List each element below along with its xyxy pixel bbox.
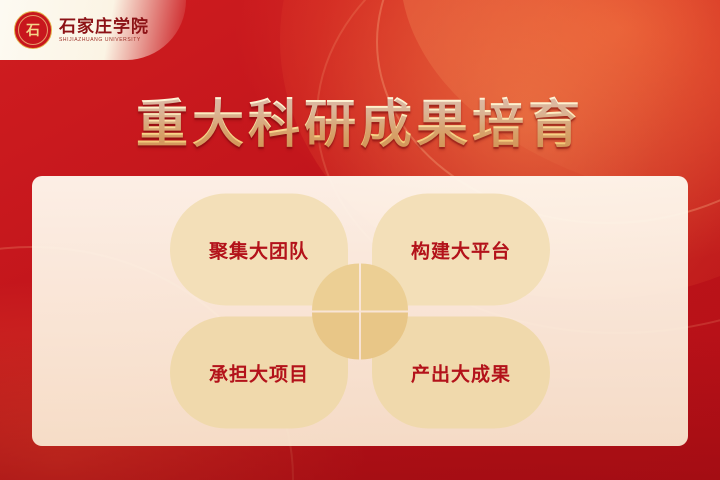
slide-canvas: 石 石家庄学院 SHIJIAZHUANG UNIVERSITY 重大科研成果培育… [0,0,720,480]
center-quadrant-bottom-left [312,312,359,359]
petal-label-top-right: 构建大平台 [411,236,511,263]
petal-label-top-left: 聚集大团队 [209,236,309,263]
slide-title: 重大科研成果培育 [0,82,720,157]
four-petal-diagram: 聚集大团队 构建大平台 承担大项目 产出大成果 [170,194,550,429]
center-quadrant-bottom-right [361,312,408,359]
logo-name-cn: 石家庄学院 [59,18,149,35]
logo-text-block: 石家庄学院 SHIJIAZHUANG UNIVERSITY [59,18,149,43]
logo-seal-icon: 石 [14,11,52,49]
petal-label-bottom-left: 承担大项目 [209,359,309,386]
logo-seal-glyph: 石 [26,20,40,40]
logo-name-en: SHIJIAZHUANG UNIVERSITY [59,37,149,42]
petal-label-bottom-right: 产出大成果 [411,359,511,386]
center-quadrant-top-right [361,263,408,310]
center-quadrant-top-left [312,263,359,310]
content-panel: 聚集大团队 构建大平台 承担大项目 产出大成果 [32,176,688,446]
diagram-center-hub [312,263,408,359]
